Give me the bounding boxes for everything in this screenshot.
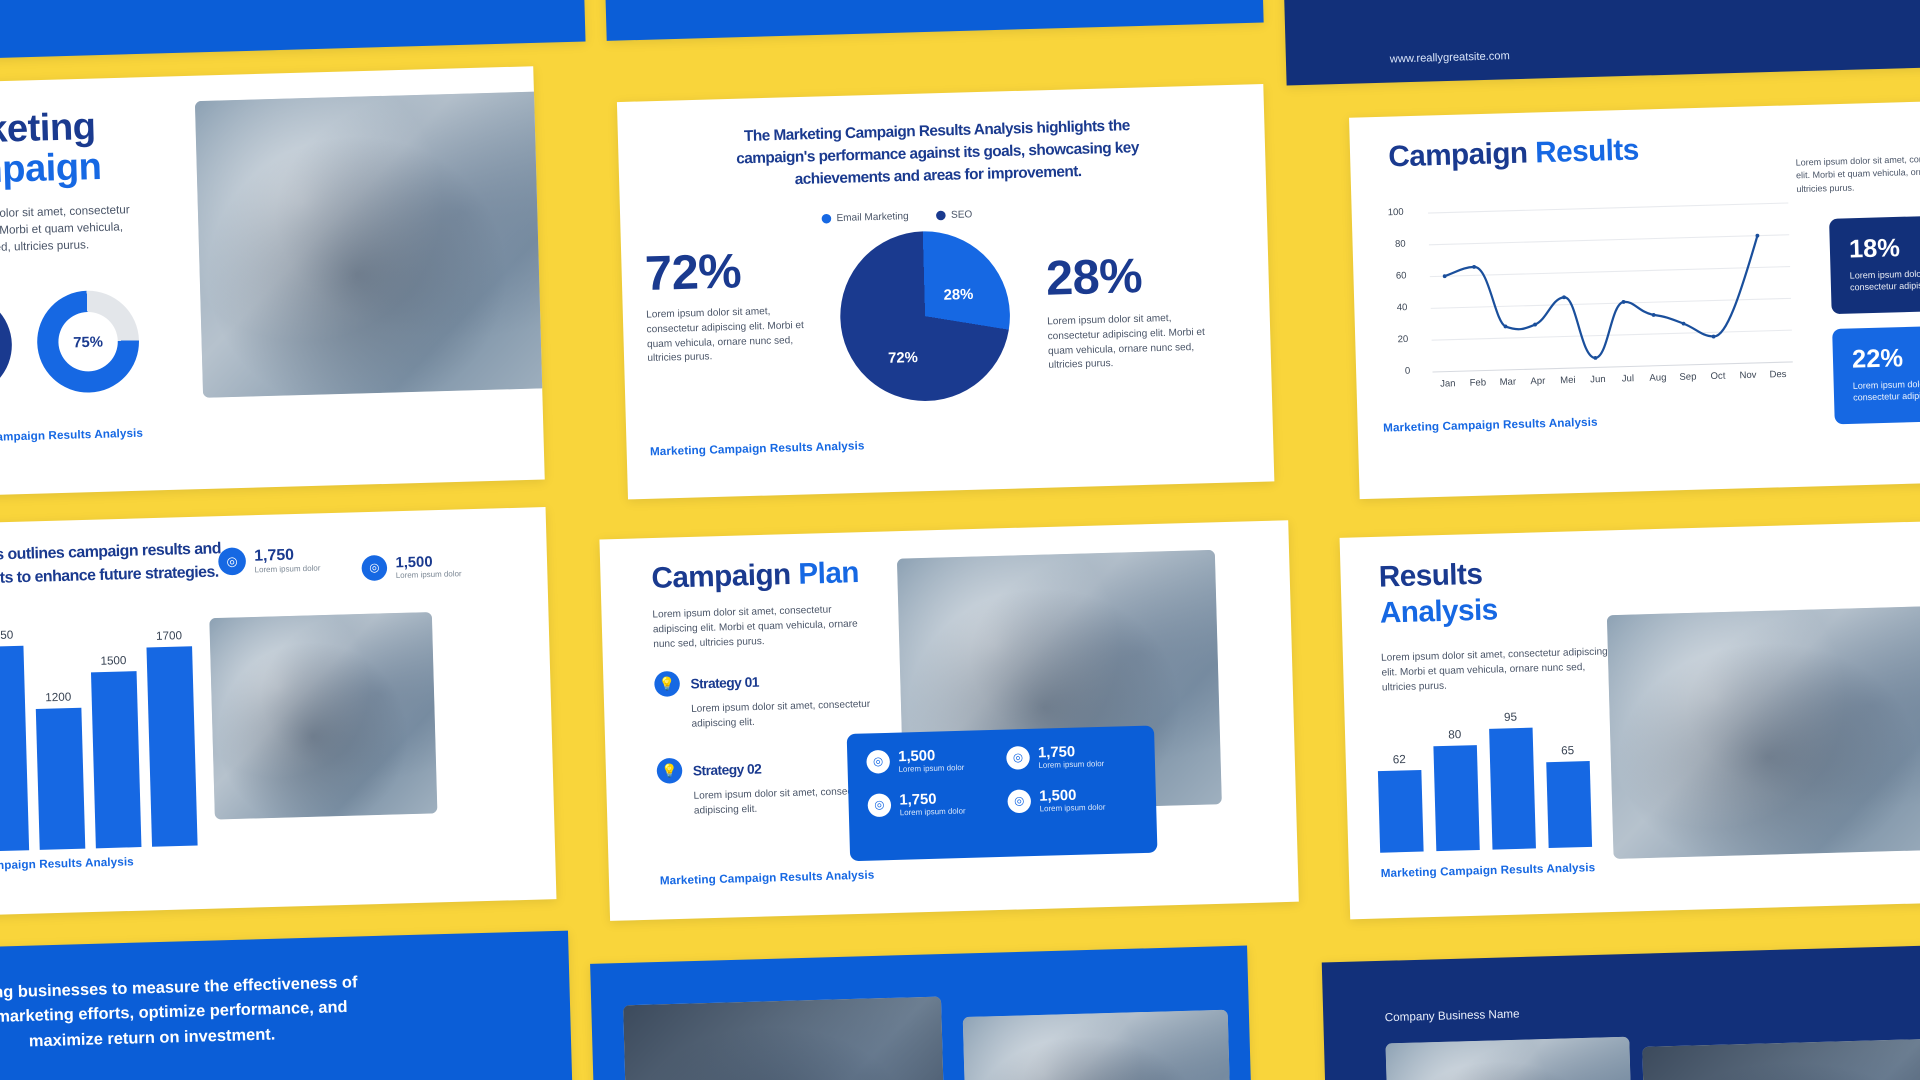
kpi-percent: 18% — [1849, 229, 1920, 265]
bar-shape — [1378, 770, 1424, 852]
quote-text: Enabling businesses to measure the effec… — [0, 970, 370, 1056]
money-icon: ◎ — [1007, 789, 1031, 813]
donut-label: 75% — [58, 311, 119, 372]
slide-deck-canvas: Marketing Campaign Results Analysis Webs… — [0, 0, 1920, 1080]
money-icon: ◎ — [866, 749, 890, 773]
stat-caption: Lorem ipsum dolor — [1039, 802, 1105, 813]
slide-photo-whiteboard — [1607, 605, 1920, 858]
slide-campaign-results[interactable]: Campaign Results Lorem ipsum dolor sit a… — [1349, 97, 1920, 499]
kpi-card-22[interactable]: 22% Lorem ipsum dolor sit amet, consecte… — [1832, 322, 1920, 425]
body-text: Lorem ipsum dolor sit amet, consectetur … — [652, 602, 860, 652]
donut-chart-65: 65% — [0, 293, 13, 398]
lightbulb-icon: 💡 — [654, 671, 680, 697]
strategy-body: Lorem ipsum dolor sit amet, consectetur … — [691, 697, 872, 731]
body-text: Lorem ipsum dolor sit amet, consectetur … — [1795, 150, 1920, 195]
bar-item: 62 — [1376, 714, 1423, 853]
y-tick-80: 80 — [1395, 238, 1406, 249]
bar-value-label: 65 — [1561, 745, 1574, 758]
bar-item: 80 — [1432, 712, 1479, 851]
pie-label-email: 28% — [943, 285, 973, 303]
bar-value-label: 1700 — [156, 630, 182, 643]
stat-1500: ◎ 1,500 Lorem ipsum dolor — [361, 552, 461, 581]
y-tick-40: 40 — [1397, 302, 1408, 313]
bar-value-label: 1500 — [100, 655, 126, 668]
slide-photo-secondary — [963, 1010, 1233, 1080]
headline: The Marketing Campaign Results Analysis … — [709, 114, 1166, 194]
kpi-subtext: Lorem ipsum dolor sit amet, consectetur … — [1853, 376, 1920, 404]
strategy-title: Strategy 01 — [690, 673, 759, 691]
slide-top-middle[interactable]: Website www.reallygreatsite.com Marketin… — [601, 0, 1264, 41]
slide-photo-team — [209, 612, 437, 820]
title-line-1: Results — [1378, 557, 1482, 594]
x-tick-jul: Jul — [1613, 372, 1643, 383]
money-icon: ◎ — [361, 554, 387, 580]
stat-caption: Lorem ipsum dolor — [254, 563, 320, 574]
website-url[interactable]: www.reallygreatsite.com — [1390, 50, 1510, 66]
bar-item: 1750 — [0, 628, 29, 852]
legend-label-email: Email Marketing — [836, 211, 908, 225]
bar-item: 1500 — [90, 625, 142, 849]
bar-group: 62 80 95 65 — [1376, 709, 1592, 853]
bar-shape — [1546, 761, 1592, 848]
slide-footer: Marketing Campaign Results Analysis — [0, 427, 143, 446]
bar-value-label: 1750 — [0, 629, 13, 642]
bar-item: 1700 — [146, 623, 198, 847]
company-name: Company Business Name — [1385, 1008, 1520, 1024]
strategy-body: Lorem ipsum dolor sit amet, consectetur … — [693, 784, 874, 818]
y-tick-60: 60 — [1396, 270, 1407, 281]
kpi-percent: 22% — [1852, 339, 1920, 375]
slide-bar-results[interactable]: This analysis outlines campaign results … — [0, 507, 556, 920]
bar-chart-results: 62 80 95 65 — [1376, 709, 1592, 853]
left-body: Lorem ipsum dolor sit amet, consectetur … — [646, 303, 826, 366]
slide-photo-team — [195, 91, 545, 397]
bar-value-label: 95 — [1504, 711, 1517, 724]
strategy-title: Strategy 02 — [693, 760, 762, 778]
body-text: Lorem ipsum dolor sit amet, consectetur … — [0, 202, 146, 259]
slide-footer: Marketing Campaign Results Analysis — [1381, 862, 1596, 881]
bar-group: 1000 1750 1200 1500 1700 — [0, 623, 198, 853]
x-tick-aug: Aug — [1643, 372, 1673, 383]
line-chart-monthly-results: 100 80 60 40 20 0 Jan Feb Mar Apr Mei Ju… — [1377, 188, 1796, 401]
bar-value-label: 1200 — [45, 691, 71, 704]
stat-item: ◎ 1,750 Lorem ipsum dolor — [867, 788, 997, 818]
bar-shape — [91, 671, 141, 848]
stat-value: 1,750 — [1038, 742, 1104, 761]
slide-top-right[interactable]: Marketing Campaign Results Analysis www.… — [1279, 0, 1920, 86]
stat-value: 1,500 — [1039, 785, 1105, 804]
slide-photo-people — [1642, 1038, 1920, 1080]
slide-top-left[interactable]: Marketing Campaign Results Analysis — [0, 0, 586, 61]
stat-caption: Lorem ipsum dolor — [396, 569, 462, 580]
x-tick-apr: Apr — [1523, 375, 1553, 386]
slide-photo-chart — [1386, 1037, 1634, 1080]
right-body: Lorem ipsum dolor sit amet, consectetur … — [1047, 310, 1227, 373]
title-part-1: Campaign — [651, 557, 799, 594]
body-text: Lorem ipsum dolor sit amet, consectetur … — [1381, 645, 1610, 695]
bar-item: 1200 — [34, 626, 86, 850]
slide-quote[interactable]: Enabling businesses to measure the effec… — [0, 931, 576, 1080]
left-percent: 72% — [644, 242, 742, 302]
bar-item: 65 — [1545, 709, 1592, 848]
stat-value: 1,750 — [254, 545, 320, 565]
donut-chart-75: 75% — [36, 289, 141, 394]
slide-marketing-campaign[interactable]: Marketing Campaign Lorem ipsum dolor sit… — [0, 66, 545, 500]
bar-shape — [0, 645, 29, 851]
money-icon: ◎ — [1006, 745, 1030, 769]
y-tick-0: 0 — [1405, 365, 1411, 376]
slide-bottom-middle[interactable] — [590, 946, 1253, 1080]
legend-label-seo: SEO — [951, 209, 973, 221]
title-part-1: Campaign — [1388, 136, 1536, 173]
slide-footer: Marketing Campaign Results Analysis — [0, 856, 134, 875]
y-tick-20: 20 — [1397, 333, 1408, 344]
pie-legend: Email Marketing SEO — [821, 209, 972, 225]
legend-swatch-seo — [936, 211, 946, 221]
slide-footer: Marketing Campaign Results Analysis — [1383, 416, 1598, 435]
slide-results-analysis[interactable]: Results Analysis Lorem ipsum dolor sit a… — [1340, 517, 1920, 919]
x-tick-sep: Sep — [1673, 371, 1703, 382]
y-tick-100: 100 — [1388, 206, 1404, 217]
title-part-2: Results — [1535, 133, 1639, 169]
title-line-2: Campaign — [0, 144, 102, 194]
x-tick-oct: Oct — [1703, 370, 1733, 381]
x-tick-feb: Feb — [1463, 377, 1493, 388]
x-tick-mei: Mei — [1553, 374, 1583, 385]
bar-chart-campaign: 1000 1750 1200 1500 1700 — [0, 623, 198, 853]
slide-photo — [623, 997, 946, 1080]
stats-panel: ◎ 1,500 Lorem ipsum dolor ◎ 1,750 Lorem … — [847, 725, 1158, 861]
x-tick-jan: Jan — [1433, 378, 1463, 389]
stat-1750: ◎ 1,750 Lorem ipsum dolor — [218, 545, 321, 575]
bar-item: 95 — [1489, 711, 1536, 850]
kpi-card-18[interactable]: 18% Lorem ipsum dolor sit amet, consecte… — [1829, 211, 1920, 314]
title-line-2: Analysis — [1379, 593, 1498, 630]
bar-shape — [1489, 728, 1536, 850]
title-part-2: Plan — [798, 556, 859, 591]
strategy-item-01: 💡 Strategy 01 Lorem ipsum dolor sit amet… — [654, 665, 889, 732]
pie-label-seo: 72% — [888, 348, 918, 366]
legend-swatch-email — [822, 214, 832, 224]
stat-value: 1,750 — [899, 789, 965, 808]
bar-shape — [36, 708, 85, 850]
stat-value: 1,500 — [395, 552, 461, 571]
stat-item: ◎ 1,750 Lorem ipsum dolor — [1006, 741, 1136, 771]
stat-item: ◎ 1,500 Lorem ipsum dolor — [1007, 784, 1137, 814]
x-tick-des: Des — [1763, 368, 1793, 379]
slide-pie-overview[interactable]: The Marketing Campaign Results Analysis … — [617, 84, 1274, 499]
bar-value-label: 80 — [1448, 729, 1461, 742]
slide-title: Campaign Plan — [651, 556, 859, 596]
stat-item: ◎ 1,500 Lorem ipsum dolor — [866, 745, 996, 775]
slide-footer: Marketing Campaign Results Analysis — [650, 440, 865, 459]
x-tick-mar: Mar — [1493, 376, 1523, 387]
bar-shape — [147, 646, 198, 846]
slide-closing[interactable]: Company Business Name 2030 — [1322, 941, 1920, 1080]
kpi-subtext: Lorem ipsum dolor sit amet, consectetur … — [1850, 266, 1920, 294]
x-tick-jun: Jun — [1583, 373, 1613, 384]
stat-caption: Lorem ipsum dolor — [900, 806, 966, 817]
money-icon: ◎ — [218, 547, 246, 575]
slide-campaign-plan[interactable]: Campaign Plan Lorem ipsum dolor sit amet… — [599, 520, 1298, 921]
right-percent: 28% — [1045, 247, 1143, 307]
stat-value: 1,500 — [898, 746, 964, 765]
money-icon: ◎ — [867, 793, 891, 817]
bar-value-label: 62 — [1393, 754, 1406, 767]
slide-title: Campaign Results — [1388, 133, 1639, 174]
x-tick-nov: Nov — [1733, 369, 1763, 380]
bar-shape — [1433, 745, 1479, 851]
lightbulb-icon: 💡 — [656, 758, 682, 784]
stat-caption: Lorem ipsum dolor — [1038, 759, 1104, 770]
pie-chart-channels: 28% 72% — [838, 229, 1012, 403]
stat-caption: Lorem ipsum dolor — [898, 763, 964, 774]
slide-footer: Marketing Campaign Results Analysis — [660, 869, 875, 888]
headline: This analysis outlines campaign results … — [0, 537, 230, 592]
